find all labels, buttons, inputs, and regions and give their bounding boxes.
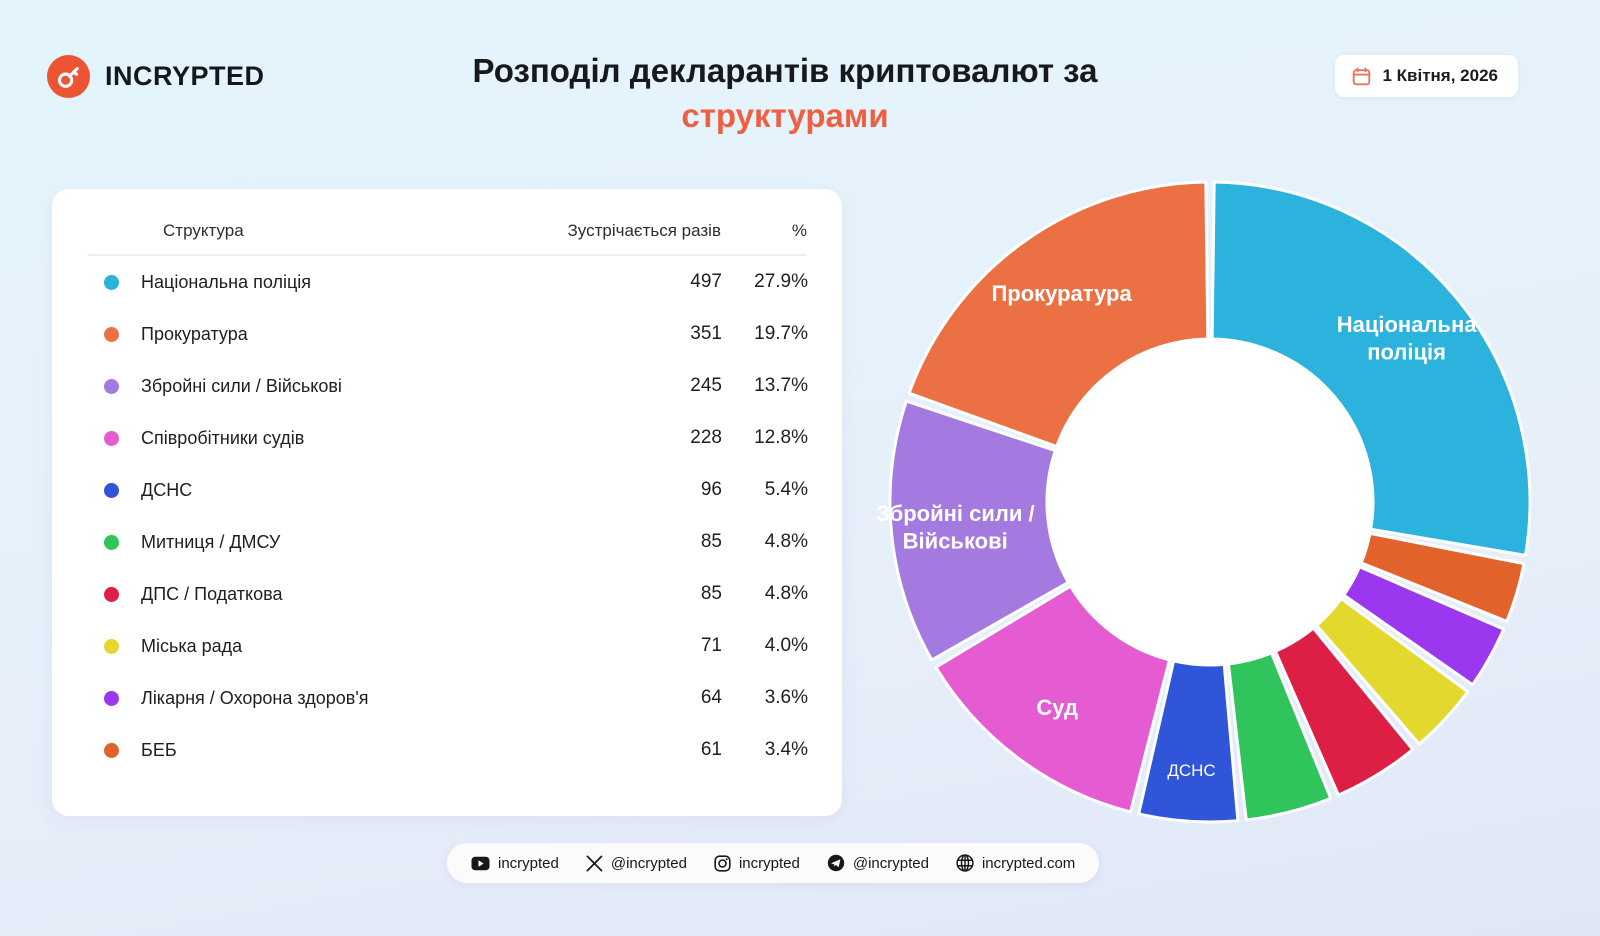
row-structure-cell: ДСНС [86, 480, 532, 501]
table-header-row: Структура Зустрічається разів % [86, 221, 808, 254]
table-row: ДПС / Податкова854.8% [86, 568, 808, 620]
date-badge: 1 Квітня, 2026 [1335, 55, 1518, 97]
row-structure-label: БЕБ [141, 740, 177, 761]
globe-icon [956, 854, 974, 872]
row-count-value: 85 [532, 531, 722, 553]
row-structure-cell: ДПС / Податкова [86, 584, 532, 605]
date-text: 1 Квітня, 2026 [1382, 66, 1498, 86]
legend-dot-icon [104, 327, 119, 342]
donut-slice-label: Прокуратура [991, 281, 1132, 306]
structures-table-card: Структура Зустрічається разів % Націонал… [52, 189, 842, 816]
row-count-value: 351 [532, 323, 722, 345]
row-structure-label: Митниця / ДМСУ [141, 532, 280, 553]
row-structure-cell: Лікарня / Охорона здоров'я [86, 688, 532, 709]
table-row: Співробітники судів22812.8% [86, 412, 808, 464]
footer-label-instagram: incrypted [739, 855, 800, 872]
legend-dot-icon [104, 587, 119, 602]
row-count-value: 96 [532, 479, 722, 501]
row-percent-value: 4.8% [722, 583, 808, 605]
row-structure-cell: Збройні сили / Військові [86, 376, 532, 397]
row-percent-value: 27.9% [722, 271, 808, 293]
row-structure-label: Лікарня / Охорона здоров'я [141, 688, 369, 709]
legend-dot-icon [104, 431, 119, 446]
table-row: БЕБ613.4% [86, 724, 808, 776]
row-percent-value: 19.7% [722, 323, 808, 345]
calendar-icon [1352, 67, 1371, 86]
row-percent-value: 5.4% [722, 479, 808, 501]
row-structure-label: ДСНС [141, 480, 192, 501]
row-structure-cell: Міська рада [86, 636, 532, 657]
donut-center-hole [1047, 339, 1373, 665]
donut-slice-label: Суд [1036, 695, 1078, 720]
footer-item-instagram[interactable]: incrypted [714, 855, 800, 872]
footer-item-x-twitter[interactable]: @incrypted [586, 855, 687, 872]
row-percent-value: 3.4% [722, 739, 808, 761]
table-row: Лікарня / Охорона здоров'я643.6% [86, 672, 808, 724]
legend-dot-icon [104, 743, 119, 758]
table-body: Національна поліція49727.9%Прокуратура35… [86, 256, 808, 776]
key-icon [47, 55, 90, 98]
row-count-value: 61 [532, 739, 722, 761]
footer-item-youtube[interactable]: incrypted [471, 855, 559, 872]
row-structure-cell: Митниця / ДМСУ [86, 532, 532, 553]
donut-chart-svg: НаціональнаполіціяДСНССудЗбройні сили /В… [876, 168, 1544, 836]
footer-label-youtube: incrypted [498, 855, 559, 872]
row-structure-label: Прокуратура [141, 324, 248, 345]
row-count-value: 245 [532, 375, 722, 397]
page-title-line1: Розподіл декларантів криптовалют за [370, 52, 1200, 91]
column-header-percent: % [721, 221, 807, 241]
row-count-value: 64 [532, 687, 722, 709]
legend-dot-icon [104, 535, 119, 550]
x-twitter-icon [586, 855, 603, 872]
column-header-structure: Структура [87, 221, 531, 241]
row-percent-value: 12.8% [722, 427, 808, 449]
row-structure-label: Національна поліція [141, 272, 311, 293]
legend-dot-icon [104, 275, 119, 290]
footer-label-website: incrypted.com [982, 855, 1075, 872]
table-row: Національна поліція49727.9% [86, 256, 808, 308]
legend-dot-icon [104, 483, 119, 498]
donut-chart: НаціональнаполіціяДСНССудЗбройні сили /В… [876, 168, 1544, 836]
row-count-value: 497 [532, 271, 722, 293]
legend-dot-icon [104, 639, 119, 654]
table-row: Митниця / ДМСУ854.8% [86, 516, 808, 568]
row-structure-cell: Національна поліція [86, 272, 532, 293]
page-title: Розподіл декларантів криптовалют за стру… [370, 52, 1200, 135]
social-footer: incrypted @incrypted incrypted @incrypte… [447, 843, 1099, 883]
row-percent-value: 4.8% [722, 531, 808, 553]
legend-dot-icon [104, 379, 119, 394]
footer-label-x-twitter: @incrypted [611, 855, 687, 872]
instagram-icon [714, 855, 731, 872]
brand-name: INCRYPTED [105, 61, 265, 92]
table-row: Збройні сили / Військові24513.7% [86, 360, 808, 412]
page-title-line2: структурами [370, 97, 1200, 136]
column-header-count: Зустрічається разів [531, 221, 721, 241]
row-structure-label: ДПС / Податкова [141, 584, 283, 605]
telegram-icon [827, 854, 845, 872]
row-count-value: 228 [532, 427, 722, 449]
row-percent-value: 4.0% [722, 635, 808, 657]
brand-logo: INCRYPTED [47, 55, 265, 98]
row-structure-cell: Співробітники судів [86, 428, 532, 449]
row-structure-cell: Прокуратура [86, 324, 532, 345]
footer-label-telegram: @incrypted [853, 855, 929, 872]
page-header: INCRYPTED Розподіл декларантів криптовал… [0, 0, 1600, 150]
row-percent-value: 13.7% [722, 375, 808, 397]
youtube-icon [471, 856, 490, 871]
row-percent-value: 3.6% [722, 687, 808, 709]
legend-dot-icon [104, 691, 119, 706]
row-structure-label: Збройні сили / Військові [141, 376, 342, 397]
donut-slice-label: ДСНС [1167, 761, 1215, 780]
row-structure-label: Міська рада [141, 636, 242, 657]
table-row: Міська рада714.0% [86, 620, 808, 672]
row-count-value: 85 [532, 583, 722, 605]
row-structure-label: Співробітники судів [141, 428, 304, 449]
row-structure-cell: БЕБ [86, 740, 532, 761]
table-row: Прокуратура35119.7% [86, 308, 808, 360]
footer-item-website[interactable]: incrypted.com [956, 854, 1075, 872]
table-row: ДСНС965.4% [86, 464, 808, 516]
row-count-value: 71 [532, 635, 722, 657]
footer-item-telegram[interactable]: @incrypted [827, 854, 929, 872]
